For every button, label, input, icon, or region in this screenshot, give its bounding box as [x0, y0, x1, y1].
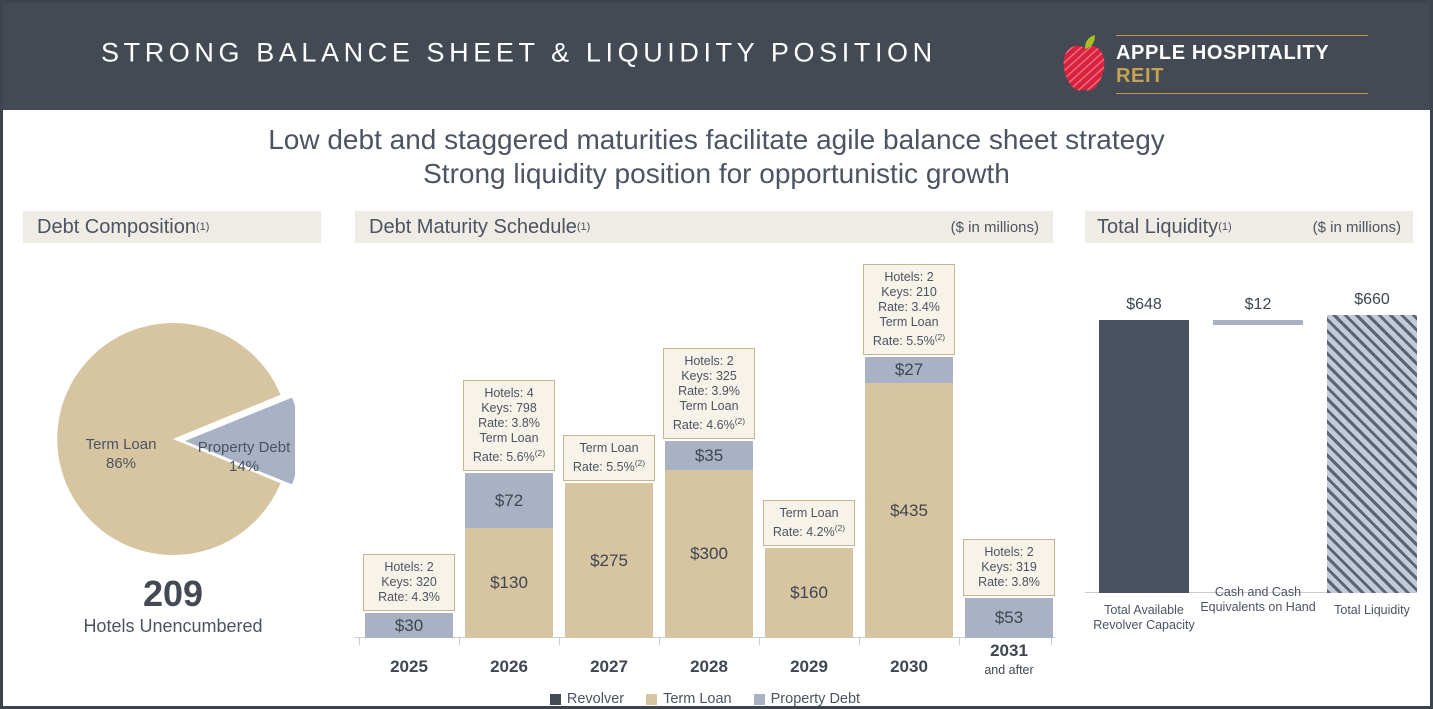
legend-swatch-revolver [550, 694, 561, 705]
bar-value-label: $27 [895, 360, 923, 380]
logo-text-secondary: REIT [1116, 65, 1164, 87]
footnote-marker: (1) [577, 221, 590, 233]
slide-subtitle: Low debt and staggered maturities facili… [3, 123, 1430, 191]
x-axis-sublabel-text: and after [965, 663, 1053, 677]
legend-item-term-loan[interactable]: Term Loan [646, 691, 732, 707]
legend-label: Revolver [567, 691, 624, 707]
bar-segment-property-debt[interactable]: $30 [365, 613, 453, 638]
legend-item-property-debt[interactable]: Property Debt [754, 691, 860, 707]
callout-2029: Term Loan Rate: 4.2%(2) [763, 500, 855, 546]
x-axis-label-text: 2026 [490, 657, 528, 676]
bar-value-label: $300 [690, 544, 728, 564]
liquidity-bar-fill [1327, 315, 1417, 593]
debt-composition-pie-chart: Term Loan 86% Property Debt 14% 209 Hote… [23, 253, 323, 673]
bar-segment-term-loan[interactable]: $130 [465, 528, 553, 638]
x-axis-label-2030: 2030 [865, 657, 953, 677]
callout-line: Rate: 4.6% [673, 418, 735, 432]
bar-value-label: $35 [695, 446, 723, 466]
x-axis-label-text: 2031 [990, 641, 1028, 660]
bar-segment-property-debt[interactable]: $72 [465, 473, 553, 528]
x-axis-label-2029: 2029 [765, 657, 853, 677]
footnote-marker: (1) [196, 221, 209, 233]
bar-segment-property-debt[interactable]: $35 [665, 441, 753, 470]
axis-tick [559, 637, 560, 645]
bar-segment-term-loan[interactable]: $275 [565, 483, 653, 638]
callout-line: Rate: 3.8% [471, 416, 547, 431]
bar-column-2029[interactable]: $160 [765, 548, 853, 638]
bar-value-label: $435 [890, 501, 928, 521]
axis-tick [959, 637, 960, 645]
callout-footnote: (2) [535, 448, 545, 458]
callout-footnote: (2) [835, 523, 845, 533]
liquidity-bar-cash-equivalents[interactable]: $12 Cash and Cash Equivalents on Hand [1213, 320, 1303, 325]
page-title: STRONG BALANCE SHEET & LIQUIDITY POSITIO… [101, 38, 937, 69]
x-axis-label-2028: 2028 [665, 657, 753, 677]
x-axis-label-2025: 2025 [365, 657, 453, 677]
subtitle-line-2: Strong liquidity position for opportunis… [3, 157, 1430, 191]
callout-2030: Hotels: 2 Keys: 210 Rate: 3.4% Term Loan… [863, 264, 955, 355]
callout-line: Term Loan [871, 315, 947, 330]
callout-line: Rate: 3.4% [871, 300, 947, 315]
callout-line: Rate: 3.8% [971, 575, 1047, 590]
bar-column-2031[interactable]: $53 [965, 598, 1053, 638]
callout-line: Keys: 798 [471, 401, 547, 416]
callout-2031: Hotels: 2 Keys: 319 Rate: 3.8% [963, 539, 1055, 596]
debt-maturity-bar-chart: $30 Hotels: 2 Keys: 320 Rate: 4.3% 2025 … [355, 255, 1055, 709]
callout-line: Hotels: 2 [971, 545, 1047, 560]
legend-label: Property Debt [771, 691, 860, 707]
liquidity-bar-revolver-capacity[interactable]: $648 Total Available Revolver Capacity [1099, 320, 1189, 593]
callout-line-last: Rate: 5.6%(2) [471, 446, 547, 465]
pie-svg [55, 321, 295, 561]
callout-footnote: (2) [735, 416, 745, 426]
x-axis-label-2031: 2031 and after [965, 641, 1053, 677]
apple-logo-icon [1058, 35, 1110, 93]
section-units: ($ in millions) [1313, 219, 1401, 236]
liquidity-caption: Cash and Cash Equivalents on Hand [1199, 585, 1317, 615]
bar-value-label: $130 [490, 573, 528, 593]
callout-line: Rate: 3.9% [671, 384, 747, 399]
x-axis-label-text: 2029 [790, 657, 828, 676]
bar-value-label: $72 [495, 491, 523, 511]
bar-column-2030[interactable]: $435 $27 [865, 357, 953, 638]
subtitle-line-1: Low debt and staggered maturities facili… [3, 123, 1430, 157]
callout-line: Term Loan [671, 399, 747, 414]
callout-footnote: (2) [635, 458, 645, 468]
company-logo: APPLE HOSPITALITY REIT [1058, 34, 1368, 94]
section-label: Debt Maturity Schedule [369, 216, 577, 239]
slide-root: STRONG BALANCE SHEET & LIQUIDITY POSITIO… [0, 0, 1433, 709]
axis-tick [359, 637, 360, 645]
section-header-debt-composition: Debt Composition(1) [23, 211, 321, 243]
x-axis-label-text: 2025 [390, 657, 428, 676]
hotels-unencumbered-label: Hotels Unencumbered [23, 616, 323, 637]
callout-line: Rate: 4.3% [371, 590, 447, 605]
bar-segment-property-debt[interactable]: $53 [965, 598, 1053, 638]
callout-line-last: Rate: 5.5%(2) [871, 330, 947, 349]
callout-2025: Hotels: 2 Keys: 320 Rate: 4.3% [363, 554, 455, 611]
liquidity-value-label: $12 [1213, 296, 1303, 314]
bar-value-label: $275 [590, 551, 628, 571]
callout-line: Hotels: 2 [871, 270, 947, 285]
bar-value-label: $160 [790, 583, 828, 603]
callout-line: Keys: 319 [971, 560, 1047, 575]
logo-text-primary: APPLE HOSPITALITY [1116, 42, 1329, 64]
callout-2026: Hotels: 4 Keys: 798 Rate: 3.8% Term Loan… [463, 380, 555, 471]
x-axis-label-text: 2027 [590, 657, 628, 676]
bar-segment-term-loan[interactable]: $160 [765, 548, 853, 638]
legend-item-revolver[interactable]: Revolver [550, 691, 624, 707]
section-units: ($ in millions) [951, 219, 1039, 236]
callout-line: Hotels: 2 [371, 560, 447, 575]
callout-line: Hotels: 4 [471, 386, 547, 401]
bar-segment-property-debt[interactable]: $27 [865, 357, 953, 383]
axis-tick [659, 637, 660, 645]
callout-2028: Hotels: 2 Keys: 325 Rate: 3.9% Term Loan… [663, 348, 755, 439]
callout-line: Keys: 210 [871, 285, 947, 300]
chart-legend: Revolver Term Loan Property Debt [355, 691, 1055, 707]
footnote-marker: (1) [1218, 221, 1231, 233]
section-header-debt-maturity: Debt Maturity Schedule (1) ($ in million… [355, 211, 1053, 243]
bar-column-2026[interactable]: $130 $72 [465, 473, 553, 638]
logo-wordmark: APPLE HOSPITALITY REIT [1116, 35, 1368, 94]
callout-line-last: Rate: 5.5%(2) [571, 456, 647, 475]
liquidity-caption: Total Liquidity [1313, 603, 1431, 618]
callout-line: Hotels: 2 [671, 354, 747, 369]
liquidity-value-label: $648 [1099, 296, 1189, 314]
section-label: Debt Composition [37, 216, 196, 239]
section-label: Total Liquidity [1097, 216, 1218, 239]
axis-tick [759, 637, 760, 645]
callout-line: Keys: 320 [371, 575, 447, 590]
slide-header: STRONG BALANCE SHEET & LIQUIDITY POSITIO… [3, 3, 1430, 110]
callout-line-last: Rate: 4.6%(2) [671, 414, 747, 433]
callout-line: Rate: 5.5% [573, 460, 635, 474]
callout-line: Rate: 4.2% [773, 525, 835, 539]
legend-swatch-property-debt [754, 694, 765, 705]
callout-line-last: Rate: 4.2%(2) [771, 521, 847, 540]
legend-label: Term Loan [663, 691, 732, 707]
bar-value-label: $30 [395, 616, 423, 636]
bar-value-label: $53 [995, 608, 1023, 628]
x-axis-label-2026: 2026 [465, 657, 553, 677]
liquidity-value-label: $660 [1327, 291, 1417, 309]
callout-2027: Term Loan Rate: 5.5%(2) [563, 435, 655, 481]
hotels-unencumbered-count: 209 [23, 573, 323, 615]
liquidity-bar-fill [1213, 320, 1303, 325]
liquidity-bar-fill [1099, 320, 1189, 593]
bar-segment-term-loan[interactable]: $435 [865, 383, 953, 638]
axis-tick [859, 637, 860, 645]
x-axis-label-2027: 2027 [565, 657, 653, 677]
callout-line: Rate: 5.6% [473, 450, 535, 464]
callout-line: Rate: 5.5% [873, 334, 935, 348]
callout-footnote: (2) [935, 332, 945, 342]
x-axis-label-text: 2030 [890, 657, 928, 676]
callout-line: Term Loan [771, 506, 847, 521]
section-header-total-liquidity: Total Liquidity (1) ($ in millions) [1085, 211, 1413, 243]
callout-line: Keys: 325 [671, 369, 747, 384]
bar-segment-term-loan[interactable]: $300 [665, 470, 753, 638]
liquidity-caption: Total Available Revolver Capacity [1085, 603, 1203, 633]
axis-tick [459, 637, 460, 645]
callout-line: Term Loan [471, 431, 547, 446]
x-axis-label-text: 2028 [690, 657, 728, 676]
total-liquidity-waterfall-chart: $648 Total Available Revolver Capacity $… [1085, 255, 1415, 675]
legend-swatch-term-loan [646, 694, 657, 705]
bar-column-2027[interactable]: $275 [565, 483, 653, 638]
bar-column-2028[interactable]: $300 $35 [665, 441, 753, 638]
liquidity-bar-total-liquidity[interactable]: $660 Total Liquidity [1327, 315, 1417, 593]
callout-line: Term Loan [571, 441, 647, 456]
bar-column-2025[interactable]: $30 [365, 613, 453, 638]
